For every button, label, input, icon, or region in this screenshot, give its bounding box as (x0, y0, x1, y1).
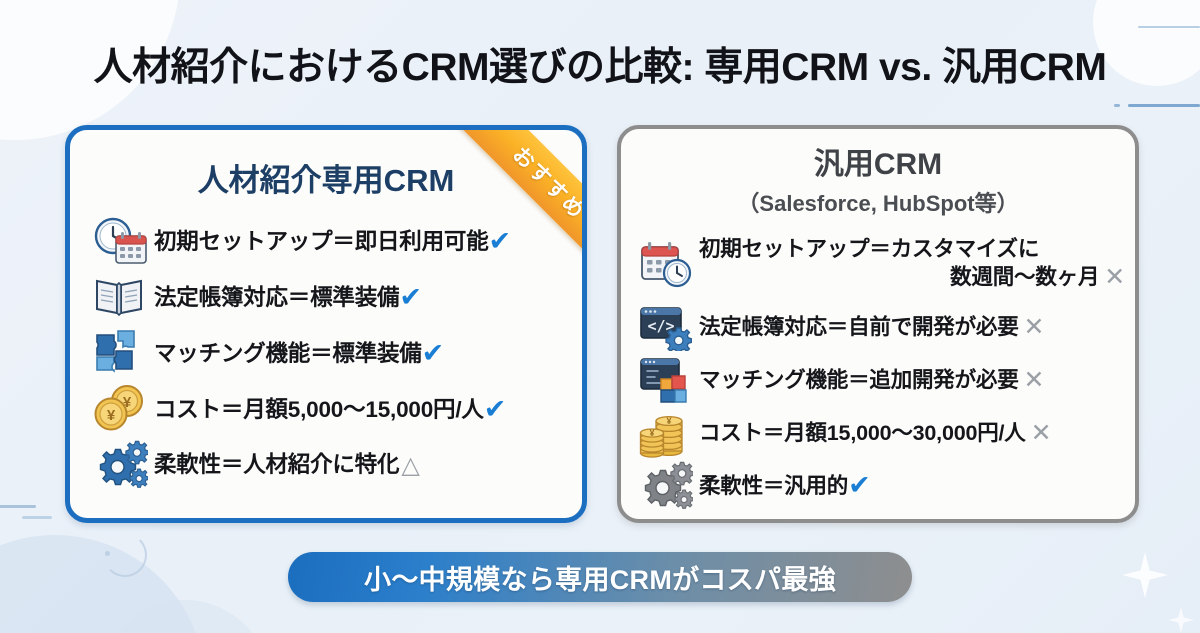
list-item-text: マッチング機能＝標準装備✔ (154, 337, 570, 370)
card-right-title: 汎用CRM (621, 149, 1135, 181)
list-item: ¥ ¥ コスト＝月額15,000〜30,000円/人✕ (637, 406, 1125, 459)
puzzle-pieces-icon (92, 327, 154, 379)
list-item-text: 初期セットアップ＝即日利用可能✔ (154, 225, 570, 258)
footer-banner-label: 小〜中規模なら専用CRMがコスパ最強 (364, 558, 836, 597)
infographic-canvas: 人材紹介におけるCRM選びの比較: 専用CRM vs. 汎用CRM おすすめ 人… (0, 0, 1200, 633)
list-item: 法定帳簿対応＝標準装備✔ (92, 269, 570, 325)
open-book-icon (92, 271, 154, 323)
code-window-gear-icon: </> (637, 301, 699, 353)
coin-stack-icon: ¥ ¥ (637, 407, 699, 459)
list-item: ¥ ¥ コスト＝月額5,000〜15,000円/人✔ (92, 381, 570, 437)
card-right-subtitle: （Salesforce, HubSpot等） (621, 186, 1135, 218)
status-mark-check: ✔ (848, 469, 870, 502)
footer-banner: 小〜中規模なら専用CRMがコスパ最強 (288, 552, 912, 602)
status-mark-check: ✔ (399, 281, 421, 314)
list-item-text: マッチング機能＝追加開発が必要✕ (699, 365, 1125, 396)
list-item-text: コスト＝月額15,000〜30,000円/人✕ (699, 418, 1125, 449)
gears-blue-icon (92, 439, 154, 491)
list-item: 初期セットアップ＝即日利用可能✔ (92, 213, 570, 269)
decor-line-bottom-left-2 (22, 516, 52, 519)
decor-sparkle-icon (1122, 552, 1168, 598)
card-generic-crm: 汎用CRM （Salesforce, HubSpot等） (617, 125, 1139, 523)
status-mark-triangle: △ (399, 451, 419, 480)
list-item-text: 初期セットアップ＝カスタマイズに 数週間〜数ヶ月✕ (699, 236, 1125, 293)
list-item: マッチング機能＝標準装備✔ (92, 325, 570, 381)
list-item-text: 法定帳簿対応＝標準装備✔ (154, 281, 570, 314)
code-window-puzzle-icon (637, 354, 699, 406)
calendar-clock-icon (637, 238, 699, 290)
list-item: 柔軟性＝汎用的✔ (637, 459, 1125, 512)
list-item: 柔軟性＝人材紹介に特化△ (92, 437, 570, 493)
list-item: マッチング機能＝追加開発が必要✕ (637, 353, 1125, 406)
list-item-text: コスト＝月額5,000〜15,000円/人✔ (154, 393, 570, 426)
decor-circle-bottom-left-2 (100, 600, 270, 633)
status-mark-cross: ✕ (1099, 262, 1125, 293)
status-mark-cross: ✕ (1019, 365, 1045, 396)
decor-circle-bottom-left (0, 535, 205, 633)
status-mark-check: ✔ (489, 225, 511, 258)
yen-coins-icon: ¥ ¥ (92, 383, 154, 435)
gears-gray-icon (637, 460, 699, 512)
card-specialized-crm: おすすめ 人材紹介専用CRM (65, 125, 587, 523)
decor-sparkle-small-icon (1168, 607, 1194, 633)
status-mark-cross: ✕ (1026, 418, 1052, 449)
decor-ring-bottom-left (103, 533, 147, 577)
decor-dot-bottom-left (105, 551, 110, 556)
decor-dot-top-right (1114, 104, 1120, 107)
status-mark-cross: ✕ (1019, 312, 1045, 343)
list-item: 初期セットアップ＝カスタマイズに 数週間〜数ヶ月✕ (637, 228, 1125, 300)
svg-text:¥: ¥ (649, 428, 654, 438)
status-mark-check: ✔ (484, 393, 506, 426)
decor-line-bottom-left-1 (0, 505, 36, 508)
decor-line-top-right-2 (1128, 104, 1200, 107)
status-mark-check: ✔ (422, 337, 444, 370)
page-title: 人材紹介におけるCRM選びの比較: 専用CRM vs. 汎用CRM (0, 36, 1200, 92)
list-item-text: 柔軟性＝人材紹介に特化△ (154, 451, 570, 480)
decor-line-top-right-1 (1138, 26, 1200, 28)
svg-text:¥: ¥ (107, 407, 116, 424)
card-left-feature-list: 初期セットアップ＝即日利用可能✔ 法定帳簿対応＝標準装備✔ (70, 213, 582, 493)
card-left-title: 人材紹介専用CRM (70, 164, 582, 197)
list-item-text: 法定帳簿対応＝自前で開発が必要✕ (699, 312, 1125, 343)
list-item: </> 法定帳簿対応＝自前で開発が必要✕ (637, 300, 1125, 353)
card-right-feature-list: 初期セットアップ＝カスタマイズに 数週間〜数ヶ月✕ </> (621, 228, 1135, 512)
svg-text:¥: ¥ (666, 416, 671, 426)
list-item-text: 柔軟性＝汎用的✔ (699, 469, 1125, 502)
list-item-text-line2: 数週間〜数ヶ月✕ (699, 262, 1125, 293)
clock-calendar-icon (92, 215, 154, 267)
